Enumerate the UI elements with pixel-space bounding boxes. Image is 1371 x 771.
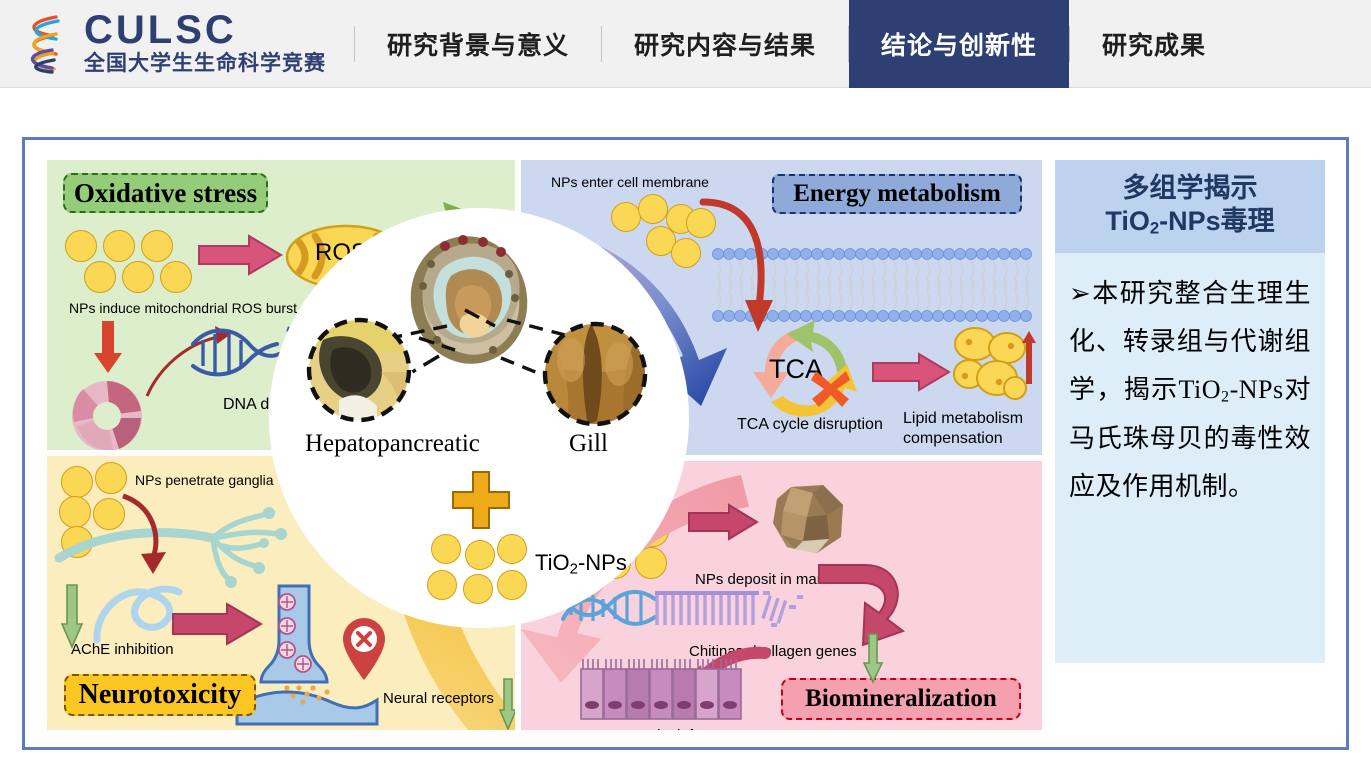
sidebar-body: ➢本研究整合生理生化、转录组与代谢组学，揭示TiO2-NPs对马氏珠母贝的毒性效… <box>1055 253 1325 663</box>
label-hepatopancreatic: Hepatopancreatic <box>305 430 480 459</box>
arrow-up-trend-icon <box>1021 330 1037 386</box>
brand-logo: CULSC 全国大学生生命科学竞赛 <box>18 10 326 76</box>
sidebar-title-line2: TiO2-NPs毒理 <box>1061 205 1319 239</box>
label-neural-receptors: Neural receptors <box>383 690 494 707</box>
label-lipid-metabolism: Lipid metabolism <box>903 410 1023 428</box>
nacre-mineral-icon <box>769 483 849 555</box>
app-header: CULSC 全国大学生生命科学竞赛 研究背景与意义 研究内容与结果 结论与创新性… <box>0 0 1371 88</box>
sidebar-body-tio2-prefix: TiO <box>1179 375 1221 404</box>
gill-photo <box>541 320 649 428</box>
arrow-down-trend-icon <box>863 633 883 683</box>
tab-conclusion-innovation[interactable]: 结论与创新性 <box>849 0 1069 88</box>
dna-helix-icon <box>18 12 70 74</box>
tab-research-content[interactable]: 研究内容与结果 <box>602 0 848 88</box>
neuron-dendrite-icon <box>55 510 305 588</box>
brand-acronym: CULSC <box>84 10 326 50</box>
glutathione-donut-icon <box>69 378 145 450</box>
curved-arrow-icon <box>117 492 175 576</box>
center-specimen-group: Hepatopancreatic Gill TiO2-NPs <box>269 208 689 628</box>
label-nps-penetrate-ganglia: NPs penetrate ganglia <box>135 472 274 488</box>
arrow-right-icon <box>687 503 759 541</box>
label-lipid-compensation: compensation <box>903 430 1003 448</box>
sidebar-title-tio2-prefix: TiO <box>1105 206 1150 236</box>
bullet-marker: ➢ <box>1069 278 1091 308</box>
sidebar-title-tio2-suffix: -NPs毒理 <box>1159 206 1275 236</box>
label-ache-inhibition: AChE inhibition <box>71 641 174 658</box>
membrane-penetration-arrow-icon <box>697 196 787 336</box>
plus-icon <box>451 470 511 530</box>
main-nav: 研究背景与意义 研究内容与结果 结论与创新性 研究成果 <box>354 0 1238 88</box>
sidebar-body-tio2-sub: 2 <box>1221 389 1230 406</box>
label-nps-enter-membrane: NPs enter cell membrane <box>551 174 709 190</box>
epithelium-cells-icon <box>579 659 751 723</box>
tab-research-background[interactable]: 研究背景与意义 <box>355 0 601 88</box>
arrow-right-icon <box>171 602 263 646</box>
label-gill: Gill <box>569 430 608 459</box>
label-nacre-matrix-defects: Nacre matrix defects <box>583 727 721 730</box>
sidebar-body-tio2-suffix: -NPs <box>1230 375 1284 404</box>
sidebar-title-tio2-sub: 2 <box>1150 219 1159 238</box>
brand-chinese-name: 全国大学生生命科学竞赛 <box>84 52 326 76</box>
arrow-down-icon <box>93 320 123 374</box>
badge-biomineralization: Biomineralization <box>781 678 1021 720</box>
arrow-down-trend-icon <box>61 584 83 648</box>
cross-blocked-icon <box>809 366 853 410</box>
sidebar-title-line1: 多组学揭示 <box>1061 172 1319 205</box>
hepatopancreatic-photo <box>305 316 413 424</box>
label-tca-disruption: TCA cycle disruption <box>737 416 883 434</box>
lipid-droplets-icon <box>953 326 1027 404</box>
tab-research-outcomes[interactable]: 研究成果 <box>1070 0 1238 88</box>
slide-frame: Oxidative stress ROS <box>22 137 1349 750</box>
graphical-abstract-figure: Oxidative stress ROS <box>47 160 1042 730</box>
badge-energy-metabolism: Energy metabolism <box>772 174 1022 214</box>
arrow-down-trend-icon <box>499 678 515 730</box>
badge-neurotoxicity: Neurotoxicity <box>64 674 256 716</box>
sidebar-title: 多组学揭示 TiO2-NPs毒理 <box>1055 160 1325 253</box>
label-tio2-nps: TiO2-NPs <box>535 550 627 577</box>
summary-sidebar: 多组学揭示 TiO2-NPs毒理 ➢本研究整合生理生化、转录组与代谢组学，揭示T… <box>1055 160 1325 663</box>
arrow-right-icon <box>871 352 951 392</box>
brand-text: CULSC 全国大学生生命科学竞赛 <box>84 10 326 76</box>
badge-oxidative-stress: Oxidative stress <box>63 173 268 213</box>
